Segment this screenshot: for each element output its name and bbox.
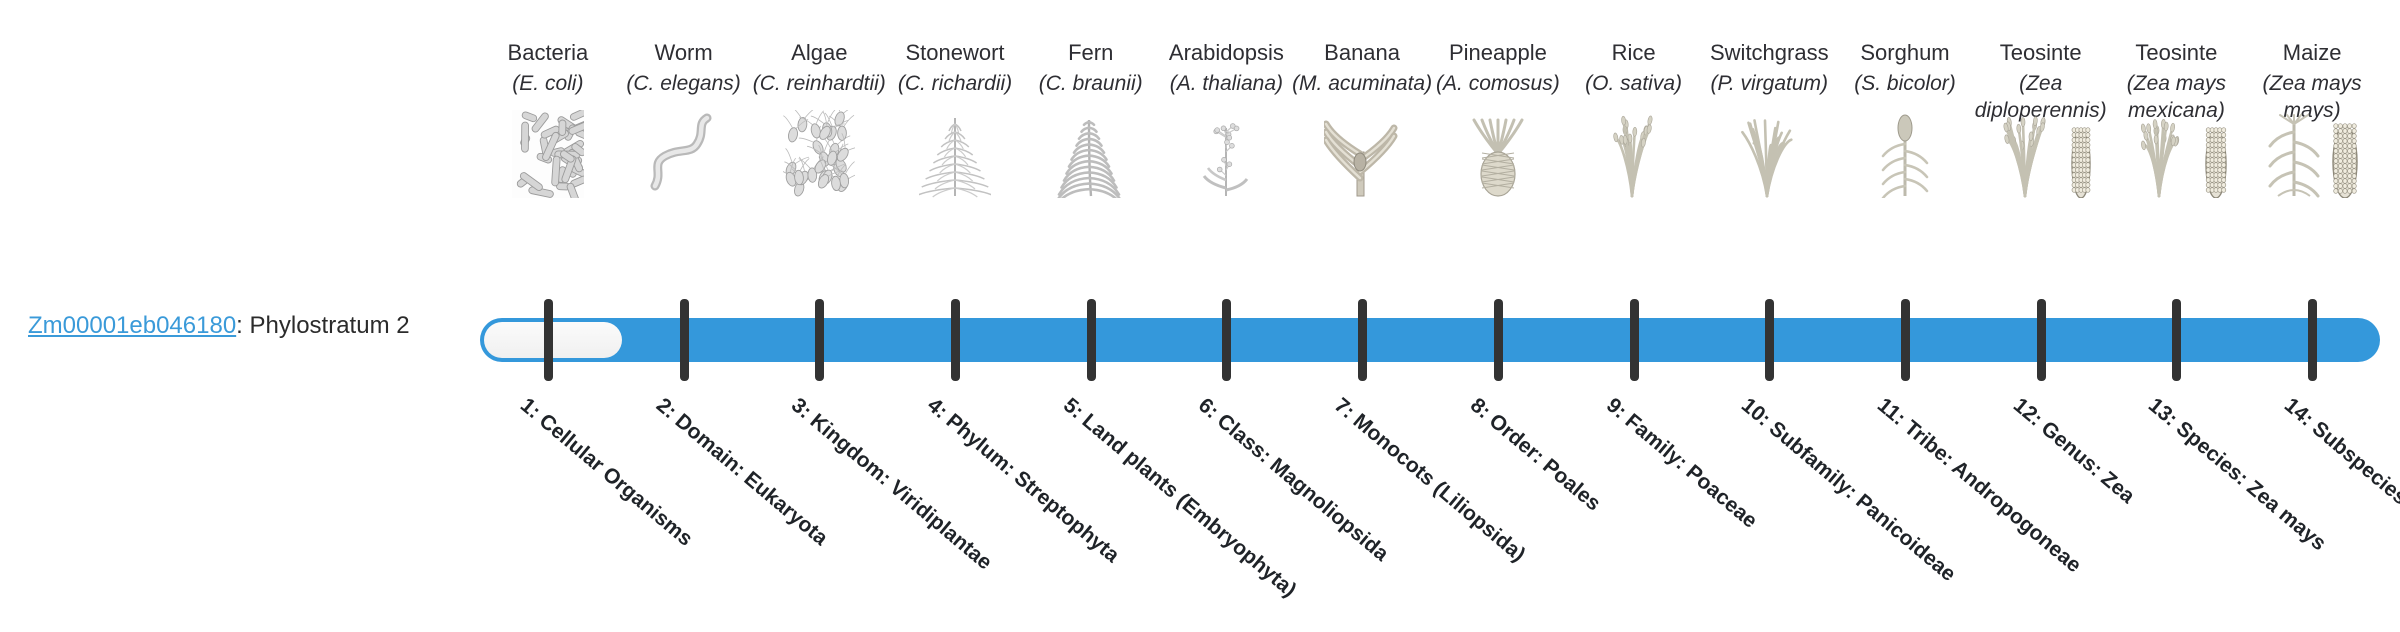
phylostratum-rank-label: 11: Tribe: Andropogoneae	[1871, 392, 2149, 632]
pineapple-icon	[1423, 108, 1573, 198]
phylostratum-tick	[1358, 299, 1367, 381]
species-common-name: Fern	[1016, 40, 1166, 66]
phylostratum-tick	[951, 299, 960, 381]
phylostratum-tick	[680, 299, 689, 381]
phylostratum-rank-label: 9: Family: Poaceae	[1600, 392, 1878, 632]
species-common-name: Stonewort	[880, 40, 1030, 66]
species-common-name: Banana	[1287, 40, 1437, 66]
species-scientific-name: (A. comosus)	[1423, 70, 1573, 97]
species-common-name: Rice	[1559, 40, 1709, 66]
species-scientific-name: (C. richardii)	[880, 70, 1030, 97]
species-scientific-name: (P. virgatum)	[1694, 70, 1844, 97]
banana-icon	[1287, 108, 1437, 198]
rice-icon	[1559, 108, 1709, 198]
phylostratum-tick	[1901, 299, 1910, 381]
phylostratum-rank-label: 7: Monocots (Liliopsida)	[1328, 392, 1606, 632]
species-scientific-name: (C. braunii)	[1016, 70, 1166, 97]
worm-icon	[609, 108, 759, 198]
phylostratum-rank-label: 4: Phylum: Streptophyta	[921, 392, 1199, 632]
species-common-name: Arabidopsis	[1151, 40, 1301, 66]
species-scientific-name: (M. acuminata)	[1287, 70, 1437, 97]
species-scientific-name: (S. bicolor)	[1830, 70, 1980, 97]
species-common-name: Switchgrass	[1694, 40, 1844, 66]
species-common-name: Sorghum	[1830, 40, 1980, 66]
phylostratum-tick	[1494, 299, 1503, 381]
algae-icon	[744, 108, 894, 198]
phylostratum-rank-label: 13: Species: Zea mays	[2142, 392, 2400, 632]
fern-icon	[1016, 108, 1166, 198]
species-scientific-name: (C. reinhardtii)	[744, 70, 894, 97]
species-scientific-name: (A. thaliana)	[1151, 70, 1301, 97]
species-common-name: Worm	[609, 40, 759, 66]
phylostratum-tick	[2308, 299, 2317, 381]
phylostratum-rank-label: 12: Genus: Zea	[2007, 392, 2285, 632]
phylostratum-rank-label: 10: Subfamily: Panicoideae	[1735, 392, 2013, 632]
phylostratum-tick	[1222, 299, 1231, 381]
phylostratum-tick	[2037, 299, 2046, 381]
species-scientific-name: (O. sativa)	[1559, 70, 1709, 97]
species-common-name: Algae	[744, 40, 894, 66]
species-scientific-name: (E. coli)	[473, 70, 623, 97]
species-scientific-name: (C. elegans)	[609, 70, 759, 97]
species-common-name: Teosinte	[1966, 40, 2116, 66]
gene-label-suffix: : Phylostratum 2	[236, 312, 409, 339]
phylostratum-rank-label: 3: Kingdom: Viridiplantae	[785, 392, 1063, 632]
gene-id-link[interactable]: Zm00001eb046180	[28, 312, 236, 339]
switchgrass-icon	[1694, 108, 1844, 198]
phylostratum-tick	[815, 299, 824, 381]
species-common-name: Pineapple	[1423, 40, 1573, 66]
teosinte-mex-icon	[2101, 108, 2251, 198]
species-common-name: Teosinte	[2101, 40, 2251, 66]
phylostratum-rank-label: 5: Land plants (Embryophyta)	[1057, 392, 1335, 632]
gene-phylostratum-label: Zm00001eb046180: Phylostratum 2	[28, 312, 410, 340]
phylostratum-rank-label: 6: Class: Magnoliopsida	[1192, 392, 1470, 632]
phylostratum-rank-label: 1: Cellular Organisms	[514, 392, 792, 632]
sorghum-icon	[1830, 108, 1980, 198]
phylostratum-tick	[1087, 299, 1096, 381]
phylostratum-tick	[1630, 299, 1639, 381]
species-common-name: Maize	[2237, 40, 2387, 66]
phylostratum-tick	[2172, 299, 2181, 381]
phylostratum-progress-bar[interactable]	[480, 318, 2380, 362]
maize-icon	[2237, 108, 2387, 198]
phylostratum-rank-label: 2: Domain: Eukaryota	[650, 392, 928, 632]
bacteria-icon	[473, 108, 623, 198]
stonewort-icon	[880, 108, 1030, 198]
phylostratum-tick	[544, 299, 553, 381]
phylostratigraphy-figure: Zm00001eb046180: Phylostratum 2 Bacteria…	[0, 0, 2400, 580]
species-common-name: Bacteria	[473, 40, 623, 66]
arabidopsis-icon	[1151, 108, 1301, 198]
phylostratum-rank-label: 8: Order: Poales	[1464, 392, 1742, 632]
phylostratum-tick	[1765, 299, 1774, 381]
teosinte-diplo-icon	[1966, 108, 2116, 198]
